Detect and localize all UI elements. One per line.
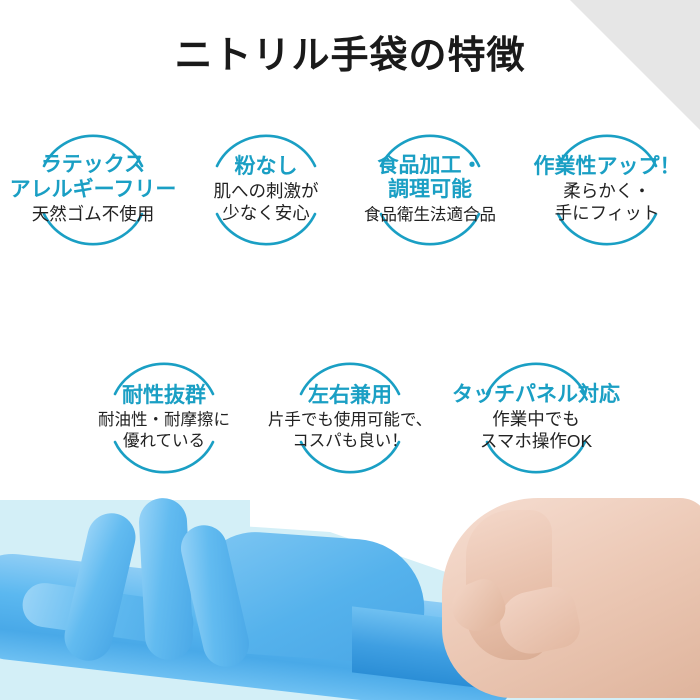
glove-finger-middle: [138, 497, 194, 661]
feature-heading-line1: 耐性抜群: [122, 384, 206, 407]
feature-subtext: 天然ゴム不使用: [32, 204, 155, 226]
feature-heading: 左右兼用: [308, 384, 392, 408]
feature-heading: 食品加工・ 調理可能: [378, 154, 483, 203]
feature-heading-line1: ラテックス: [41, 153, 145, 176]
feature-touchscreen: タッチパネル対応 作業中でも スマホ操作OK: [443, 340, 629, 495]
feature-row-1: ラテックス アレルギーフリー 天然ゴム不使用 粉なし: [0, 112, 700, 267]
feature-heading-line1: 左右兼用: [308, 384, 392, 407]
feature-powder-free: 粉なし 肌への刺激が 少なく安心: [186, 112, 346, 267]
feature-subtext-line2: スマホ操作OK: [480, 431, 592, 451]
feature-heading: 作業性アップ！: [534, 155, 681, 179]
feature-subtext-line1: 作業中でも: [492, 409, 580, 429]
feature-subtext: 耐油性・耐摩擦に 優れている: [98, 410, 230, 451]
feature-subtext-line2: 少なく安心: [222, 203, 310, 223]
feature-subtext-line1: 食品衛生法適合品: [364, 206, 496, 224]
feature-subtext: 肌への刺激が 少なく安心: [214, 181, 319, 224]
feature-subtext-line1: 柔らかく・: [563, 181, 651, 201]
feature-durability: 耐性抜群 耐油性・耐摩擦に 優れている: [71, 340, 257, 495]
feature-subtext-line2: 手にフィット: [555, 203, 660, 223]
feature-row-2: 耐性抜群 耐油性・耐摩擦に 優れている 左右兼用: [0, 340, 700, 495]
feature-grid: ラテックス アレルギーフリー 天然ゴム不使用 粉なし: [0, 112, 700, 495]
feature-heading-line1: 粉なし: [235, 155, 298, 178]
feature-subtext: 食品衛生法適合品: [364, 205, 496, 225]
feature-heading: ラテックス アレルギーフリー: [10, 153, 177, 202]
feature-subtext-line2: コスパも良い！: [292, 432, 408, 450]
feature-subtext-line1: 耐油性・耐摩擦に: [98, 411, 230, 429]
page-title: ニトリル手袋の特徴: [0, 36, 700, 78]
feature-heading: 耐性抜群: [122, 384, 206, 408]
feature-subtext: 柔らかく・ 手にフィット: [555, 181, 660, 224]
feature-subtext-line1: 天然ゴム不使用: [32, 204, 155, 224]
feature-latex-allergy-free: ラテックス アレルギーフリー 天然ゴム不使用: [0, 112, 186, 267]
feature-subtext: 作業中でも スマホ操作OK: [480, 409, 592, 452]
feature-heading: タッチパネル対応: [452, 383, 620, 407]
feature-subtext-line1: 肌への刺激が: [214, 181, 319, 201]
feature-heading-line2: 調理可能: [388, 178, 472, 201]
feature-heading: 粉なし: [235, 155, 298, 179]
feature-food-processing: 食品加工・ 調理可能 食品衛生法適合品: [346, 112, 514, 267]
feature-subtext-line1: 片手でも使用可能で、: [268, 411, 432, 429]
feature-heading-line1: 食品加工・: [378, 154, 483, 177]
feature-ambidextrous: 左右兼用 片手でも使用可能で、 コスパも良い！: [257, 340, 443, 495]
feature-workability-up: 作業性アップ！ 柔らかく・ 手にフィット: [514, 112, 700, 267]
infographic-canvas: ニトリル手袋の特徴 ラテックス アレルギーフリー 天然ゴム不使用: [0, 0, 700, 700]
feature-subtext-line2: 優れている: [123, 432, 205, 450]
feature-heading-line1: タッチパネル対応: [452, 383, 620, 406]
feature-subtext: 片手でも使用可能で、 コスパも良い！: [268, 410, 432, 451]
feature-heading-line1: 作業性アップ！: [534, 155, 681, 178]
feature-heading-line2: アレルギーフリー: [10, 178, 177, 201]
